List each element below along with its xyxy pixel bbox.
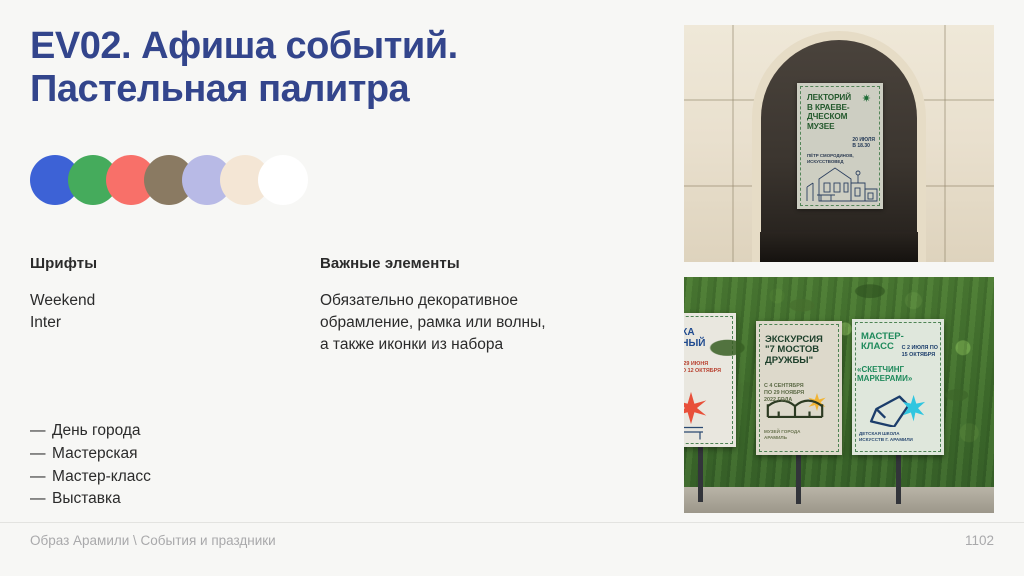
starburst-icon bbox=[684, 391, 708, 425]
important-column: Важные элементы Обязательно декоративное… bbox=[320, 255, 640, 356]
masterclass-poster: МАСТЕР- КЛАСС «СКЕТЧИНГ МАРКЕРАМИ» С 2 И… bbox=[852, 319, 944, 455]
dash-icon: — bbox=[30, 488, 52, 511]
presentation-slide: EV02. Афиша событий. Пастельная палитра … bbox=[0, 0, 1024, 576]
dash-icon: — bbox=[30, 466, 52, 489]
list-item-label: Выставка bbox=[52, 488, 121, 511]
poster-date: 20 ИЮЛЯ В 18.30 bbox=[852, 137, 875, 150]
exhibition-poster: ВКА СНЫЙ С 29 ИЮНЯ ПО 12 ОКТЯБРЯ bbox=[684, 313, 736, 447]
important-heading: Важные элементы bbox=[320, 255, 640, 272]
poster-organizer: ДЕТСКАЯ ШКОЛА ИСКУССТВ Г. АРАМИЛИ bbox=[859, 431, 913, 443]
bench-icon bbox=[684, 423, 706, 441]
info-columns: Шрифты Weekend Inter Важные элементы Обя… bbox=[30, 255, 650, 356]
important-body: Обязательно декоративное обрамление, рам… bbox=[320, 290, 640, 356]
poster-date: С 29 ИЮНЯ ПО 12 ОКТЯБРЯ bbox=[684, 361, 721, 375]
list-item-label: Мастерская bbox=[52, 443, 138, 466]
wall-seam bbox=[924, 99, 994, 101]
lecture-poster: ЛЕКТОРИЙ В КРАЕВЕ- ДЧЕСКОМ МУЗЕЕ ✷ 20 ИЮ… bbox=[797, 83, 883, 209]
dash-icon: — bbox=[30, 420, 52, 443]
page-title: EV02. Афиша событий. Пастельная палитра bbox=[30, 25, 650, 112]
poster-subtitle: «СКЕТЧИНГ МАРКЕРАМИ» bbox=[857, 365, 912, 383]
archway-floor bbox=[760, 232, 918, 262]
dash-icon: — bbox=[30, 443, 52, 466]
building-illustration-icon bbox=[805, 159, 879, 203]
signboard-post bbox=[698, 442, 703, 502]
color-palette bbox=[30, 155, 308, 205]
poster-date: С 4 СЕНТЯБРЯ ПО 29 НОЯБРЯ 2022 ГОДА bbox=[764, 383, 804, 404]
title-area: EV02. Афиша событий. Пастельная палитра bbox=[30, 25, 650, 112]
fonts-column: Шрифты Weekend Inter bbox=[30, 255, 320, 356]
poster-date: С 2 ИЮЛЯ ПО 15 ОКТЯБРЯ bbox=[902, 345, 938, 359]
wall-seam bbox=[684, 185, 754, 187]
list-item: — Выставка bbox=[30, 488, 430, 511]
poster-title: ЭКСКУРСИЯ "7 МОСТОВ ДРУЖБЫ" bbox=[765, 335, 838, 366]
arch-with-poster-photo: ЛЕКТОРИЙ В КРАЕВЕ- ДЧЕСКОМ МУЗЕЕ ✷ 20 ИЮ… bbox=[684, 25, 994, 262]
list-item: — Мастер-класс bbox=[30, 466, 430, 489]
wall-seam bbox=[684, 99, 754, 101]
event-type-list: — День города — Мастерская — Мастер-клас… bbox=[30, 420, 430, 511]
ivy-fence-posters-photo: ВКА СНЫЙ С 29 ИЮНЯ ПО 12 ОКТЯБРЯ ЭКСКУРС… bbox=[684, 277, 994, 513]
signboard-post bbox=[896, 452, 901, 504]
swatch-7 bbox=[258, 155, 308, 205]
marker-pen-icon bbox=[864, 391, 926, 427]
wall-seam bbox=[944, 25, 946, 262]
pavement bbox=[684, 487, 994, 513]
star-icon: ✷ bbox=[862, 94, 871, 105]
footer-breadcrumb: Образ Арамили \ События и праздники bbox=[30, 533, 276, 548]
list-item-label: Мастер-класс bbox=[52, 466, 151, 489]
footer-divider bbox=[0, 522, 1024, 523]
excursion-poster: ЭКСКУРСИЯ "7 МОСТОВ ДРУЖБЫ" С 4 СЕНТЯБРЯ… bbox=[756, 321, 842, 455]
list-item: — День города bbox=[30, 420, 430, 443]
fonts-list: Weekend Inter bbox=[30, 290, 320, 334]
list-item: — Мастерская bbox=[30, 443, 430, 466]
poster-title: ВКА СНЫЙ bbox=[684, 327, 732, 349]
slide-number: 1102 bbox=[965, 533, 994, 548]
wall-seam bbox=[924, 185, 994, 187]
poster-organizer: МУЗЕЙ ГОРОДА АРАМИЛЬ bbox=[764, 429, 800, 441]
list-item-label: День города bbox=[52, 420, 141, 443]
signboard-post bbox=[796, 452, 801, 504]
fonts-heading: Шрифты bbox=[30, 255, 320, 272]
wall-seam bbox=[732, 25, 734, 262]
